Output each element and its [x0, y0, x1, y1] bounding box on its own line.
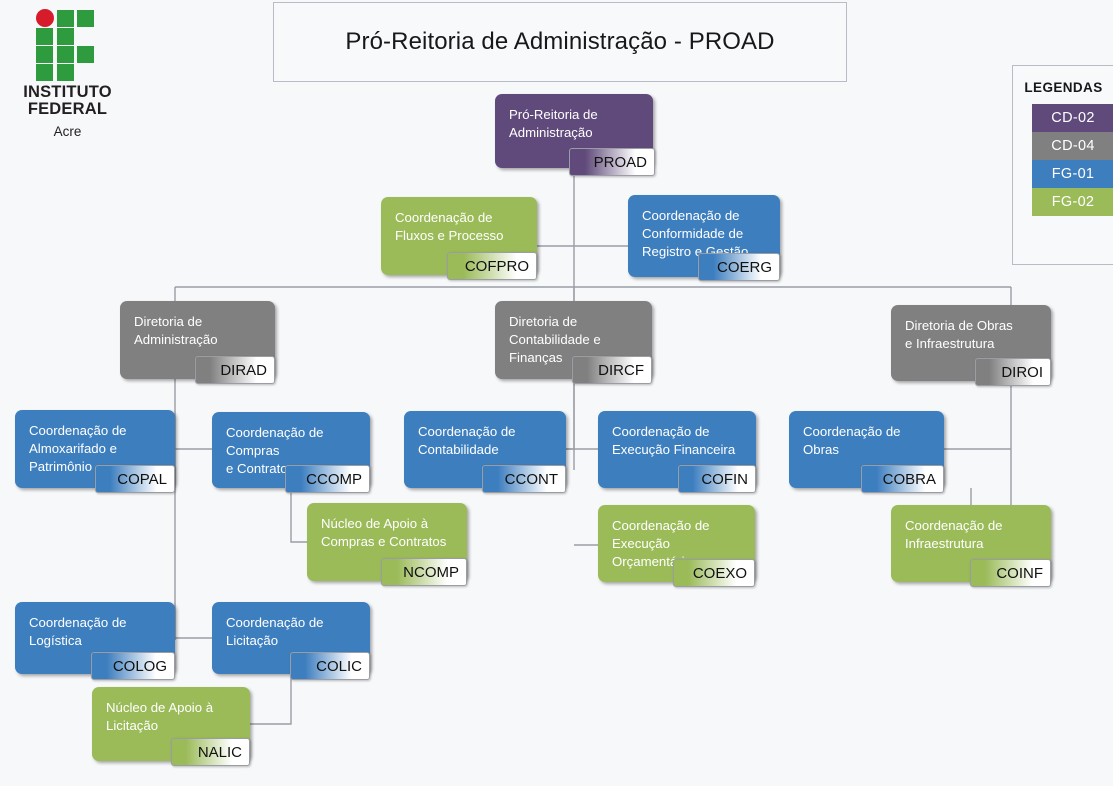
org-node-label: Diretoria deAdministração — [134, 313, 263, 349]
org-node-tag-coerg: COERG — [698, 253, 780, 281]
if-logo-icon — [36, 9, 94, 79]
org-node-tag-colic: COLIC — [290, 652, 370, 680]
org-node-tag-cofpro: COFPRO — [447, 252, 537, 280]
org-node-tag-cobra: COBRA — [861, 465, 944, 493]
org-node-tag-coinf: COINF — [970, 559, 1051, 587]
chart-title-box: Pró-Reitoria de Administração - PROAD — [273, 2, 847, 82]
org-node-label: Diretoria de Obrase Infraestrutura — [905, 317, 1039, 353]
legend-item-cd-02: CD-02 — [1032, 104, 1113, 132]
org-node-label: Coordenação deLogística — [29, 614, 163, 650]
org-node-tag-ccomp: CCOMP — [285, 465, 370, 493]
connector-12 — [250, 674, 291, 724]
org-node-tag-colog: COLOG — [91, 652, 175, 680]
org-node-label: Coordenação deExecução Financeira — [612, 423, 744, 459]
org-node-label: Coordenação deFluxos e Processo — [395, 209, 525, 245]
org-node-tag-ncomp: NCOMP — [381, 558, 467, 586]
org-chart-canvas: INSTITUTO FEDERAL Acre Pró-Reitoria de A… — [0, 0, 1113, 786]
org-node-label: Coordenação deLicitação — [226, 614, 358, 650]
legend-title: LEGENDAS — [1013, 80, 1113, 95]
page-title: Pró-Reitoria de Administração - PROAD — [345, 28, 774, 56]
org-node-tag-ccont: CCONT — [482, 465, 566, 493]
org-node-tag-copal: COPAL — [95, 465, 175, 493]
org-node-tag-diroi: DIROI — [975, 358, 1051, 386]
org-node-tag-dirad: DIRAD — [195, 356, 275, 384]
org-node-label: Coordenação de Obras — [803, 423, 932, 459]
legend-box: LEGENDAS CD-02CD-04FG-01FG-02 — [1012, 65, 1113, 265]
legend-item-fg-02: FG-02 — [1032, 188, 1113, 216]
org-node-label: Pró-Reitoria deAdministração — [509, 106, 641, 142]
brand-name-line2: FEDERAL — [0, 101, 135, 118]
org-node-label: Núcleo de Apoio àLicitação — [106, 699, 238, 735]
brand-name: INSTITUTO FEDERAL — [0, 84, 135, 118]
org-node-tag-cofin: COFIN — [678, 465, 756, 493]
org-node-tag-dircf: DIRCF — [572, 356, 652, 384]
org-node-label: Núcleo de Apoio àCompras e Contratos — [321, 515, 455, 551]
connector-11 — [291, 488, 307, 542]
legend-item-cd-04: CD-04 — [1032, 132, 1113, 160]
brand-campus: Acre — [0, 124, 135, 139]
legend-item-fg-01: FG-01 — [1032, 160, 1113, 188]
org-node-label: Coordenação deContabilidade — [418, 423, 554, 459]
org-node-label: Coordenação deInfraestrutura — [905, 517, 1039, 553]
org-node-tag-proad: PROAD — [569, 148, 655, 176]
org-node-tag-nalic: NALIC — [171, 738, 250, 766]
brand-name-line1: INSTITUTO — [0, 84, 135, 101]
org-node-tag-coexo: COEXO — [673, 559, 755, 587]
legend-items: CD-02CD-04FG-01FG-02 — [1032, 104, 1113, 216]
